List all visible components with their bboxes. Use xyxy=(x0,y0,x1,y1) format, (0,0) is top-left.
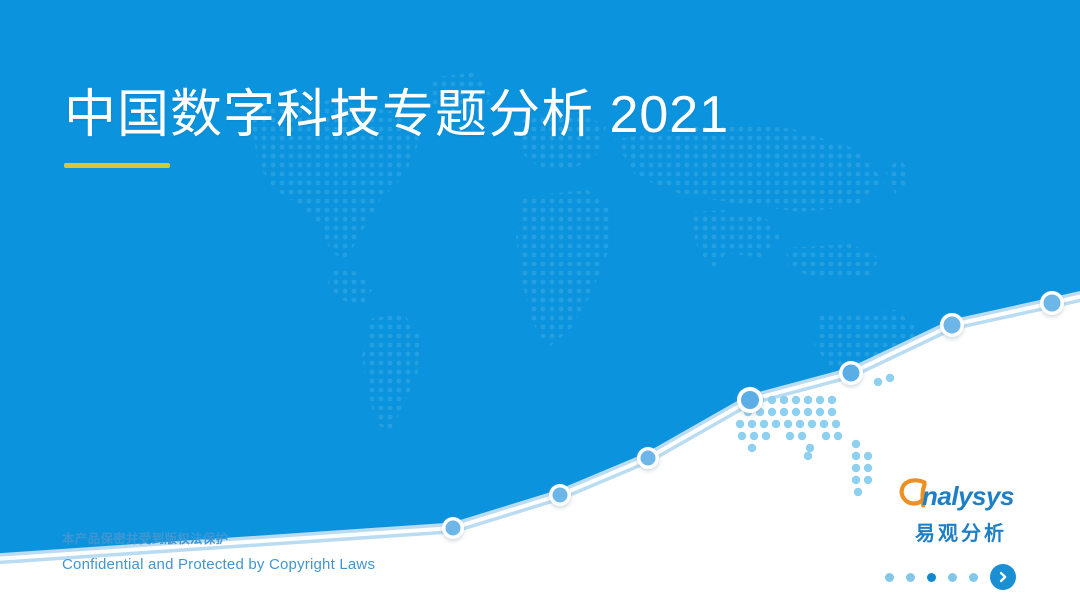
pager-dot[interactable] xyxy=(906,573,915,582)
analysys-logo: nalysys 易观分析 xyxy=(896,476,1026,546)
chart-marker xyxy=(553,488,568,503)
chart-marker xyxy=(446,521,461,536)
confidentiality-notice-cn: 本产品保密并受到版权法保护 xyxy=(62,530,375,549)
pager-dot[interactable] xyxy=(885,573,894,582)
page-title: 中国数字科技专题分析 2021 xyxy=(64,86,729,146)
confidentiality-notice: 本产品保密并受到版权法保护 Confidential and Protected… xyxy=(62,530,375,576)
slide-pager xyxy=(885,564,1016,590)
chart-marker xyxy=(944,317,961,334)
pager-dots xyxy=(885,573,978,582)
pager-dot-active[interactable] xyxy=(927,573,936,582)
pager-dot[interactable] xyxy=(969,573,978,582)
confidentiality-notice-en: Confidential and Protected by Copyright … xyxy=(62,553,375,576)
chart-marker xyxy=(641,451,656,466)
chart-marker xyxy=(843,365,860,382)
decorative-dot-cluster xyxy=(736,374,894,496)
svg-text:nalysys: nalysys xyxy=(922,481,1014,511)
analysys-logo-chinese-name: 易观分析 xyxy=(896,517,1026,546)
title-underline-rule xyxy=(64,163,170,168)
analysys-wordmark-icon: nalysys xyxy=(896,476,1026,516)
presentation-cover-slide: 中国数字科技专题分析 2021 本产品保密并受到版权法保护 Confidenti… xyxy=(0,0,1080,608)
title-block: 中国数字科技专题分析 2021 xyxy=(64,86,729,168)
chart-marker xyxy=(741,391,759,409)
chart-marker xyxy=(1044,295,1061,312)
pager-dot[interactable] xyxy=(948,573,957,582)
next-slide-button[interactable] xyxy=(990,564,1016,590)
chevron-right-icon xyxy=(996,570,1010,584)
